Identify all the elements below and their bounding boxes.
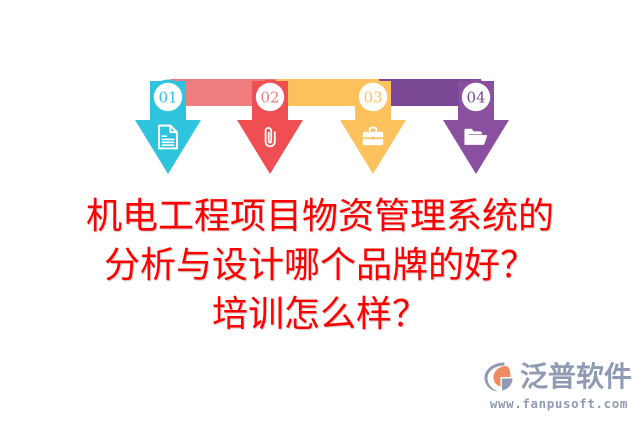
fanpu-logo-mark [482, 360, 518, 394]
poster-canvas: 01 02 03 [0, 0, 640, 427]
connector-bars [170, 79, 481, 106]
brand-logo: 泛普软件 www.fanpusoft.com [482, 359, 628, 415]
poster-headline: 机电工程项目物资管理系统的 分析与设计哪个品牌的好？ 培训怎么样？ [0, 192, 640, 339]
step-04-number: 04 [466, 89, 485, 107]
headline-line-3: 培训怎么样？ [0, 290, 640, 339]
headline-line-2: 分析与设计哪个品牌的好？ [0, 241, 640, 290]
four-step-arrow-infographic: 01 02 03 [0, 0, 640, 190]
brand-name: 泛普软件 [520, 362, 632, 392]
headline-line-1: 机电工程项目物资管理系统的 [0, 192, 640, 241]
brand-url: www.fanpusoft.com [482, 396, 628, 411]
step-02-number: 02 [260, 89, 279, 107]
step-01-number: 01 [158, 89, 177, 107]
step-03-number: 03 [363, 89, 382, 107]
